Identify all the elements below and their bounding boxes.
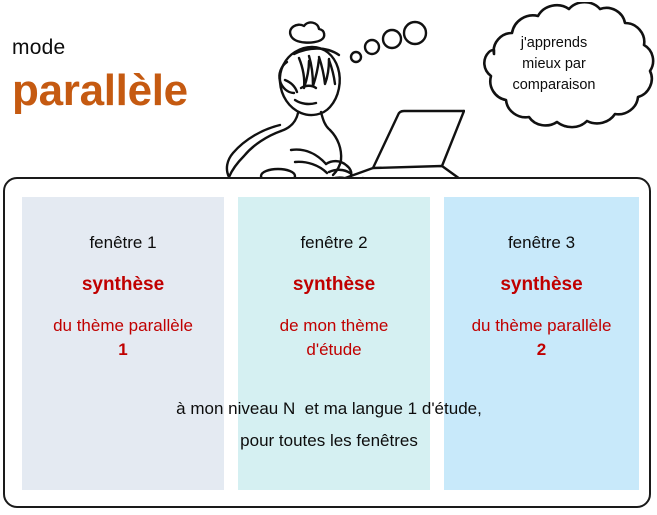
window-2-title: fenêtre 2 <box>238 233 430 253</box>
window-3-synthesis: synthèse <box>444 274 639 296</box>
window-1-number: 1 <box>118 340 127 359</box>
thought-bubble-line-1: j'apprends <box>470 33 638 54</box>
window-2-synthesis: synthèse <box>238 274 430 296</box>
windows-columns: fenêtre 1 synthèse du thème parallèle 1 … <box>5 179 653 510</box>
thought-bubble-line-2: mieux par <box>470 54 638 75</box>
window-2-description: de mon thème d'étude <box>238 314 430 362</box>
window-2-number: d'étude <box>306 340 361 359</box>
window-3-description: du thème parallèle 2 <box>444 314 639 362</box>
window-1-description: du thème parallèle 1 <box>22 314 224 362</box>
slide-canvas: mode parallèle <box>0 0 657 515</box>
page-title: parallèle <box>12 66 188 116</box>
window-1-title: fenêtre 1 <box>22 233 224 253</box>
window-3-title: fenêtre 3 <box>444 233 639 253</box>
person-studying-at-laptop-illustration <box>195 0 465 180</box>
window-1-description-text: du thème parallèle <box>53 316 193 335</box>
mode-label: mode <box>12 36 65 60</box>
thought-bubble-line-3: comparaison <box>470 75 638 96</box>
window-column-3[interactable]: fenêtre 3 synthèse du thème parallèle 2 <box>444 197 639 490</box>
window-column-2[interactable]: fenêtre 2 synthèse de mon thème d'étude <box>238 197 430 490</box>
window-2-description-text: de mon thème <box>280 316 389 335</box>
thought-bubble-text: j'apprends mieux par comparaison <box>470 33 638 96</box>
window-3-description-text: du thème parallèle <box>472 316 612 335</box>
window-column-1[interactable]: fenêtre 1 synthèse du thème parallèle 1 <box>22 197 224 490</box>
window-1-synthesis: synthèse <box>22 274 224 296</box>
window-3-number: 2 <box>537 340 546 359</box>
header-region: mode parallèle <box>0 0 657 175</box>
parallel-mode-panel: fenêtre 1 synthèse du thème parallèle 1 … <box>3 177 651 508</box>
